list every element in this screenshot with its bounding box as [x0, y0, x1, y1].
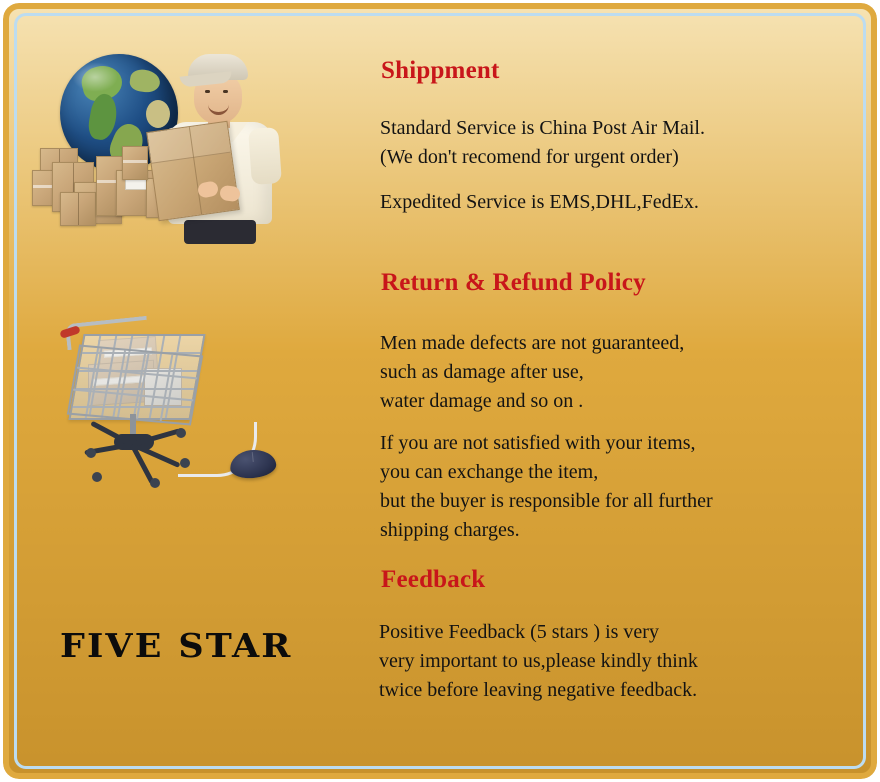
section-heading-shipment: Shippment: [381, 57, 500, 85]
text-line: Men made defects are not guaranteed,: [380, 329, 684, 358]
return-paragraph-2: If you are not satisfied with your items…: [380, 429, 713, 545]
text-line: If you are not satisfied with your items…: [380, 429, 713, 458]
text-line: shipping charges.: [380, 516, 713, 545]
text-line: very important to us,please kindly think: [379, 647, 698, 676]
trousers: [184, 220, 256, 244]
shipment-paragraph-2: Expedited Service is EMS,DHL,FedEx.: [380, 188, 699, 217]
shopping-cart-mouse-image: [58, 306, 273, 494]
five-star-word-star: STAR: [178, 626, 292, 665]
text-line: (We don't recomend for urgent order): [380, 143, 705, 172]
section-heading-feedback: Feedback: [381, 566, 485, 594]
banner-content: FIVESTAR Shippment Standard Service is C…: [0, 0, 880, 782]
delivery-man-globe-boxes-image: [30, 42, 295, 237]
cart-caster-wheel: [92, 472, 102, 482]
text-line: Expedited Service is EMS,DHL,FedEx.: [380, 188, 699, 217]
text-line: such as damage after use,: [380, 358, 684, 387]
five-star-word-five: FIVE: [60, 626, 163, 665]
text-line: Standard Service is China Post Air Mail.: [380, 114, 705, 143]
held-parcel-box: [146, 121, 240, 222]
text-line: twice before leaving negative feedback.: [379, 676, 698, 705]
text-line: you can exchange the item,: [380, 458, 713, 487]
text-line: but the buyer is responsible for all fur…: [380, 487, 713, 516]
shipment-paragraph-1: Standard Service is China Post Air Mail.…: [380, 114, 705, 172]
five-star-wordmark: FIVESTAR: [60, 626, 292, 665]
feedback-paragraph-1: Positive Feedback (5 stars ) is very ver…: [379, 618, 698, 705]
text-line: Positive Feedback (5 stars ) is very: [379, 618, 698, 647]
text-line: water damage and so on .: [380, 387, 684, 416]
cart-caster-wheel: [150, 478, 160, 488]
policy-banner-page: FIVESTAR Shippment Standard Service is C…: [0, 0, 880, 782]
return-paragraph-1: Men made defects are not guaranteed, suc…: [380, 329, 684, 416]
sleeve-right: [248, 127, 282, 185]
cardboard-box: [122, 146, 148, 180]
delivery-man-figure: [158, 50, 288, 236]
section-heading-return-refund: Return & Refund Policy: [381, 269, 646, 297]
cart-caster-wheel: [86, 448, 96, 458]
cardboard-box: [60, 192, 96, 226]
